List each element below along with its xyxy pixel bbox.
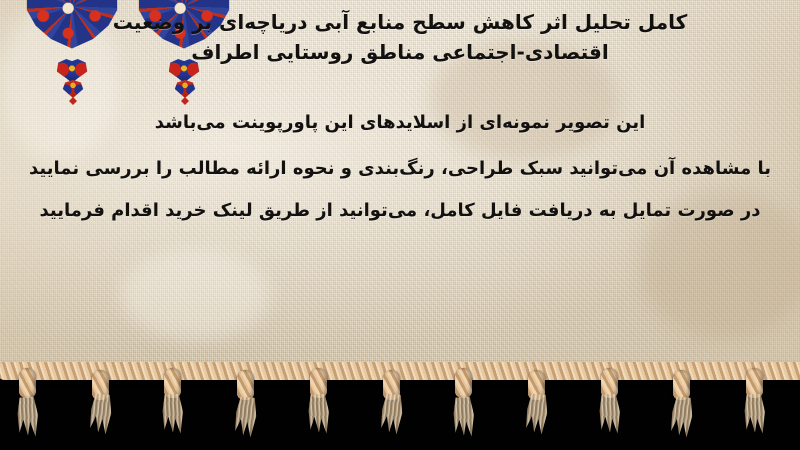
carpet-fringe-band xyxy=(0,352,800,450)
fringe-knot xyxy=(237,370,254,400)
body-text-line-2: با مشاهده آن می‌توانید سبک طراحی، رنگ‌بن… xyxy=(0,158,800,179)
fringe-knot xyxy=(673,370,690,400)
fringe-knot xyxy=(601,368,618,398)
canvas-blotch xyxy=(120,250,270,340)
fringe-knot xyxy=(164,368,181,398)
fringe-knot xyxy=(455,368,472,398)
presentation-slide: کامل تحلیل اثر کاهش سطح منابع آبی دریاچه… xyxy=(0,0,800,450)
fringe-knot xyxy=(746,368,763,398)
fringe-knot xyxy=(310,368,327,398)
fringe-knot xyxy=(19,368,36,398)
body-text-line-3: در صورت تمایل به دریافت فایل کامل، می‌تو… xyxy=(0,200,800,221)
body-text-line-1: این تصویر نمونه‌ای از اسلایدهای این پاور… xyxy=(0,112,800,133)
slide-title-line-2: اقتصادی-اجتماعی مناطق روستایی اطراف xyxy=(0,40,800,64)
slide-title-line-1: کامل تحلیل اثر کاهش سطح منابع آبی دریاچه… xyxy=(0,10,800,34)
